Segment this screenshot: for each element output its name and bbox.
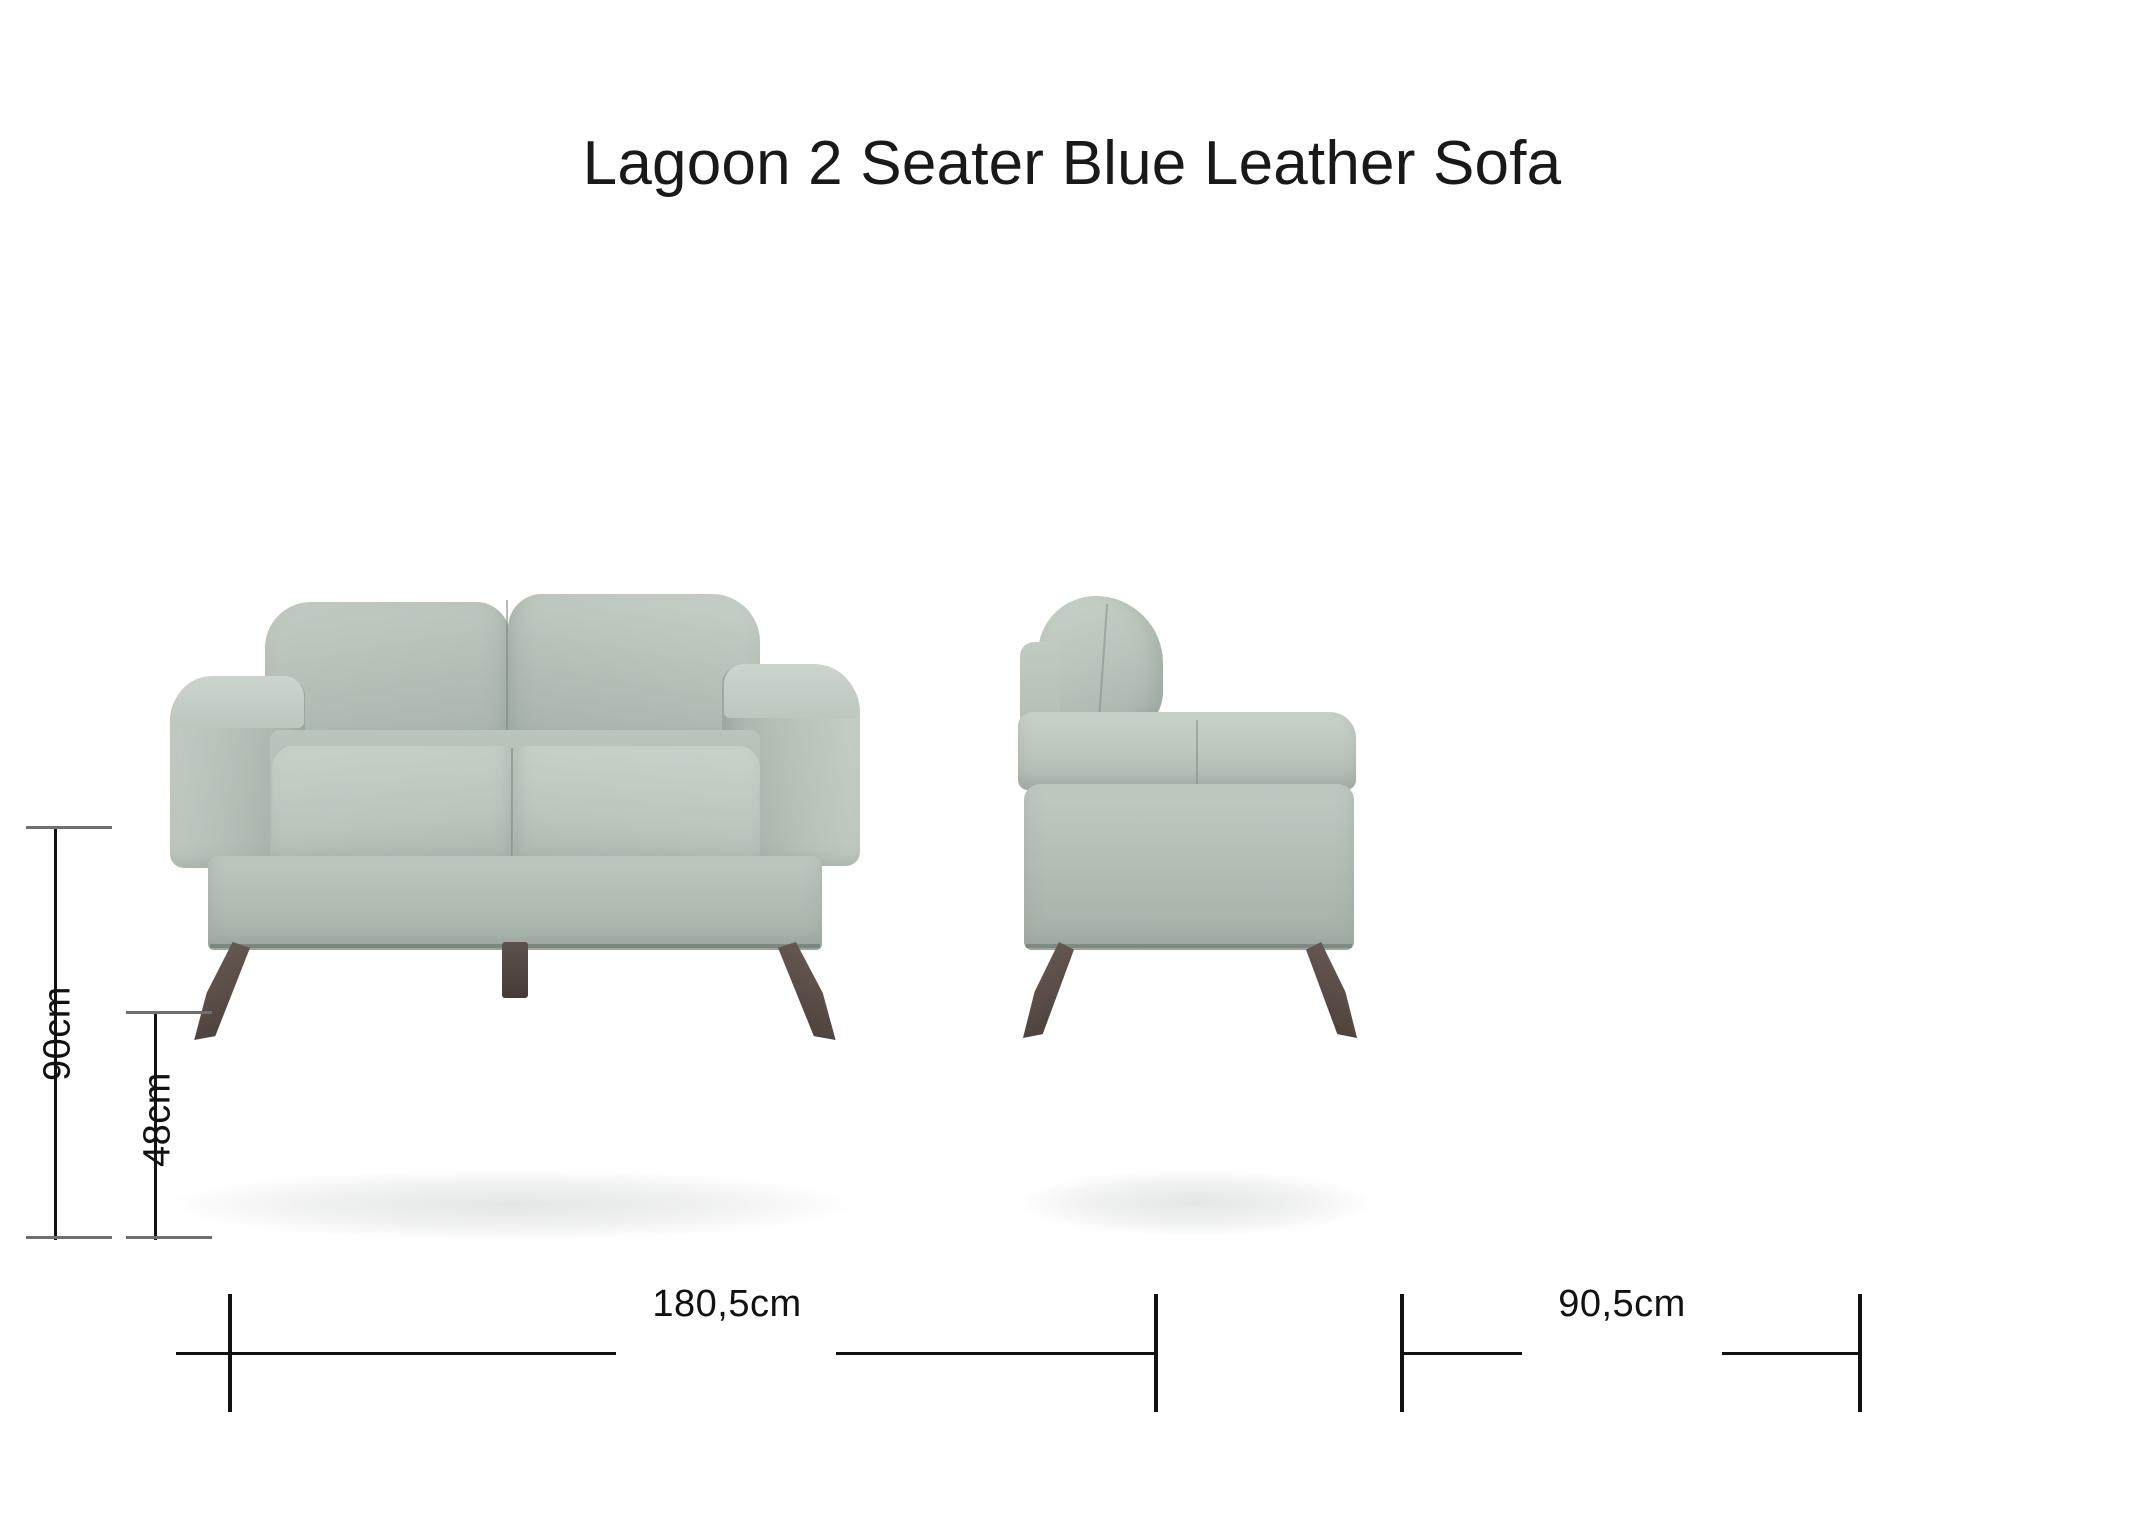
page-title: Lagoon 2 Seater Blue Leather Sofa [0, 128, 2144, 199]
dimension-tick-depth-side-end [1858, 1294, 1862, 1412]
front-arm-left-top [172, 676, 304, 728]
dimension-label-height-seat: 48cm [137, 1055, 180, 1185]
front-leg-center [502, 942, 528, 998]
dimension-tick-height-overall-top [26, 826, 112, 829]
front-seat-cushion-left [272, 746, 512, 866]
dimension-diagram-canvas: Lagoon 2 Seater Blue Leather Sofa [0, 0, 2144, 1528]
side-floor-shadow [1020, 1170, 1370, 1236]
side-body-panel [1024, 784, 1354, 950]
dimension-label-height-overall: 90cm [37, 969, 80, 1099]
dimension-tick-width-front-end [1154, 1294, 1158, 1412]
dimension-label-width-front: 180,5cm [616, 1283, 838, 1326]
side-seat-seam [1196, 720, 1198, 786]
front-seat-cushion-right [514, 746, 760, 866]
front-view-sofa [150, 580, 870, 1260]
side-seat-cushion [1018, 712, 1356, 790]
dimension-line-width-front-left [176, 1352, 616, 1355]
front-base [208, 856, 822, 950]
dimension-label-depth-side: 90,5cm [1522, 1283, 1722, 1326]
side-leg-front [1016, 942, 1074, 1038]
dimension-line-depth-side-left [1402, 1352, 1522, 1355]
front-arm-right-top [724, 664, 858, 718]
side-base-shadow-line [1026, 944, 1352, 948]
front-floor-shadow [170, 1170, 850, 1240]
side-view-sofa [1010, 580, 1380, 1260]
dimension-tick-width-front-start [228, 1294, 232, 1412]
front-seat-seam [511, 748, 513, 864]
dimension-tick-depth-side-start [1400, 1294, 1404, 1412]
front-leg-right [778, 942, 842, 1040]
dimension-tick-height-seat-bottom [126, 1236, 212, 1239]
dimension-tick-height-overall-bottom [26, 1236, 112, 1239]
dimension-line-width-front-right [836, 1352, 1158, 1355]
front-leg-left [188, 942, 250, 1040]
dimension-line-depth-side-right [1722, 1352, 1862, 1355]
dimension-tick-height-seat-top [126, 1011, 212, 1014]
side-leg-back [1306, 942, 1364, 1038]
front-backrest-seam [506, 600, 508, 750]
